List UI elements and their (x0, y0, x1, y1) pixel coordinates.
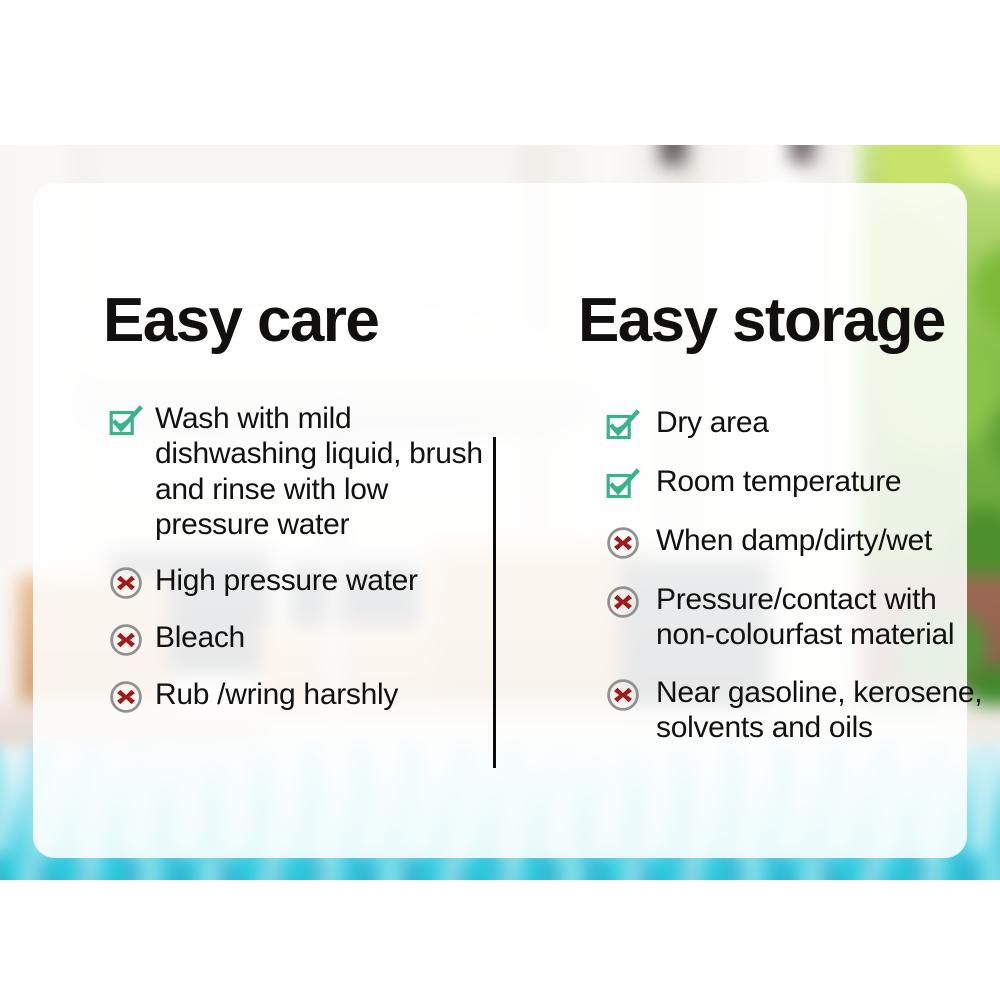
list-easy-care: Wash with mild dishwashing liquid, brush… (109, 401, 509, 734)
list-item: When damp/dirty/wet (606, 523, 986, 560)
cross-circle-icon (606, 526, 640, 560)
list-item-label: Bleach (155, 620, 245, 655)
check-box-icon (606, 467, 640, 501)
cross-circle-icon (109, 623, 143, 657)
care-instructions-card: Easy care Wash with mild dishwashing liq… (33, 183, 967, 858)
heading-easy-care: Easy care (103, 290, 378, 352)
cross-circle-icon (606, 585, 640, 619)
list-item: Rub /wring harshly (109, 677, 509, 714)
list-item-label: Pressure/contact with non-colourfast mat… (656, 582, 986, 653)
list-item-label: High pressure water (155, 563, 418, 598)
list-item: Pressure/contact with non-colourfast mat… (606, 582, 986, 653)
list-item: Dry area (606, 405, 986, 442)
cross-circle-icon (109, 680, 143, 714)
screenshot-root: Easy care Wash with mild dishwashing liq… (0, 0, 1000, 1000)
cross-circle-icon (606, 678, 640, 712)
list-item-label: Rub /wring harshly (155, 677, 398, 712)
list-item-label: Near gasoline, kerosene, solvents and oi… (656, 675, 986, 746)
list-item-label: Wash with mild dishwashing liquid, brush… (155, 401, 509, 543)
list-easy-storage: Dry area Room temperature (606, 405, 986, 768)
list-item: Wash with mild dishwashing liquid, brush… (109, 401, 509, 543)
list-item-label: Dry area (656, 405, 769, 440)
list-item-label: When damp/dirty/wet (656, 523, 932, 558)
list-item: Near gasoline, kerosene, solvents and oi… (606, 675, 986, 746)
list-item: Bleach (109, 620, 509, 657)
background-shutter-a (660, 145, 686, 165)
check-box-icon (109, 404, 143, 438)
background-pool-water-deep (0, 855, 1000, 880)
column-divider (493, 437, 496, 768)
heading-easy-storage: Easy storage (578, 290, 945, 352)
check-box-icon (606, 408, 640, 442)
list-item: Room temperature (606, 464, 986, 501)
cross-circle-icon (109, 566, 143, 600)
list-item-label: Room temperature (656, 464, 901, 499)
background-shutter-b (790, 145, 814, 163)
list-item: High pressure water (109, 563, 509, 600)
